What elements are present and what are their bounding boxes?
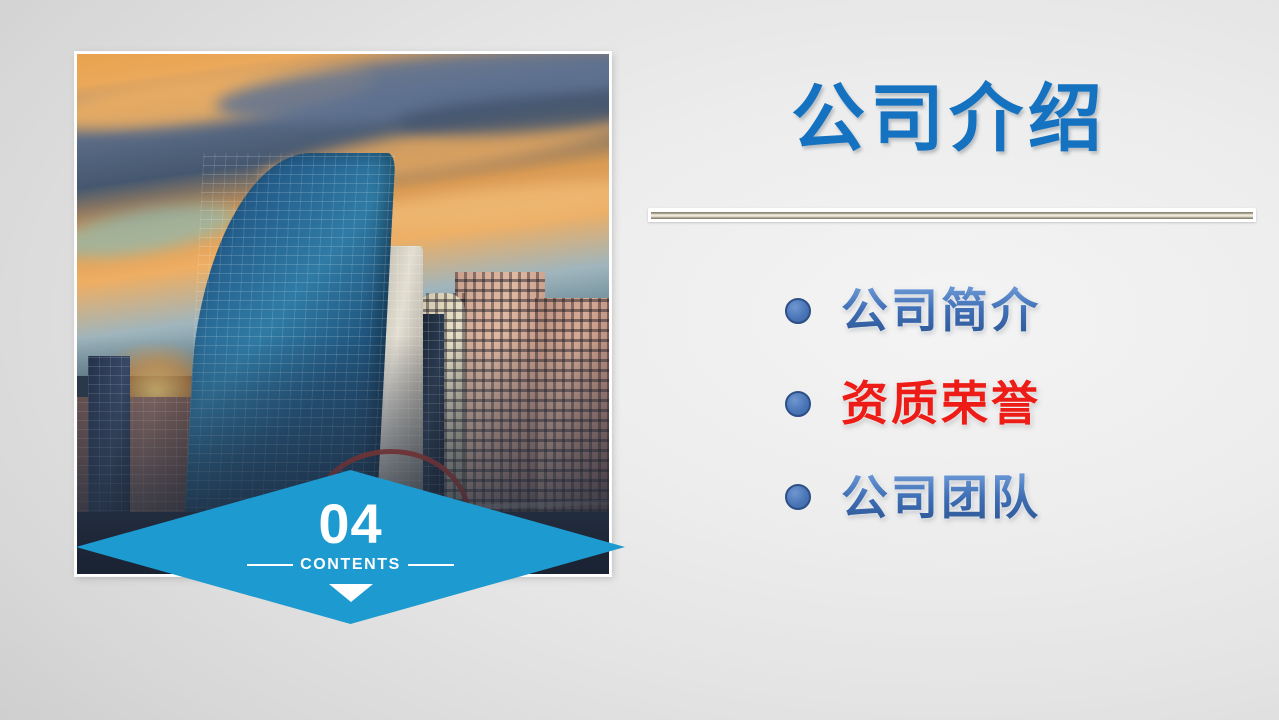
bullet-dot-icon xyxy=(785,484,811,510)
bullet-dot-icon xyxy=(785,391,811,417)
agenda-item-label: 公司简介 xyxy=(841,286,1041,335)
page-title: 公司介绍 xyxy=(645,82,1253,156)
list-item[interactable]: 公司团队 xyxy=(785,473,1041,522)
list-item[interactable]: 资质荣誉 xyxy=(785,379,1041,428)
list-item[interactable]: 公司简介 xyxy=(785,286,1041,335)
title-divider xyxy=(648,208,1256,222)
bullet-dot-icon xyxy=(785,298,811,324)
right-column: 公司介绍 公司简介 资质荣誉 公司团队 xyxy=(645,0,1279,720)
agenda-item-label: 公司团队 xyxy=(841,473,1041,522)
agenda-item-label-active: 资质荣誉 xyxy=(841,379,1041,428)
presentation-slide: 04 CONTENTS 公司介绍 公司简介 资质荣誉 公司团队 xyxy=(0,0,1279,720)
divider-inner-bevel xyxy=(651,212,1253,219)
agenda-list: 公司简介 资质荣誉 公司团队 xyxy=(785,286,1041,522)
